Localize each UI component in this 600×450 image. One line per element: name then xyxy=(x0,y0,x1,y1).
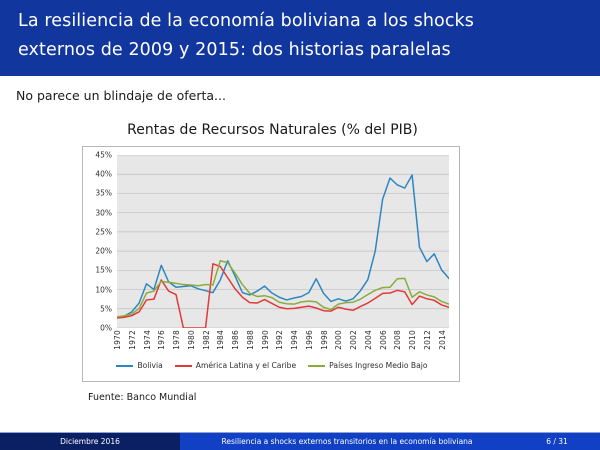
chart-series-svg xyxy=(117,155,449,328)
x-axis-tick-label: 1970 xyxy=(113,330,122,350)
x-axis-tick-label: 2012 xyxy=(423,330,432,350)
chart-title: Rentas de Recursos Naturales (% del PIB) xyxy=(0,122,545,138)
legend-item: Países Ingreso Medio Bajo xyxy=(308,361,427,370)
y-axis-tick-label: 40% xyxy=(95,170,112,179)
y-axis-tick-label: 5% xyxy=(100,304,112,313)
x-axis-tick-label: 1986 xyxy=(231,330,240,350)
x-axis-tick-label: 1994 xyxy=(290,330,299,350)
chart-y-axis: 0%5%10%15%20%25%30%35%40%45% xyxy=(83,155,115,328)
y-axis-tick-label: 20% xyxy=(95,247,112,256)
x-axis-tick-label: 2010 xyxy=(408,330,417,350)
legend-swatch xyxy=(308,365,325,367)
y-axis-tick-label: 30% xyxy=(95,208,112,217)
x-axis-tick-label: 1974 xyxy=(143,330,152,350)
chart-x-axis: 1970197219741976197819801982198419861988… xyxy=(117,330,449,362)
x-axis-tick-label: 1980 xyxy=(187,330,196,350)
slide-title-line-2: externos de 2009 y 2015: dos historias p… xyxy=(18,36,582,65)
x-axis-tick-label: 1972 xyxy=(128,330,137,350)
y-axis-tick-label: 0% xyxy=(100,324,112,333)
source-note: Fuente: Banco Mundial xyxy=(88,392,196,403)
legend-swatch xyxy=(116,365,133,367)
footer-date: Diciembre 2016 xyxy=(0,433,180,450)
y-axis-tick-label: 45% xyxy=(95,151,112,160)
x-axis-tick-label: 1984 xyxy=(216,330,225,350)
x-axis-tick-label: 2006 xyxy=(379,330,388,350)
legend-label: América Latina y el Caribe xyxy=(196,361,296,370)
chart-frame: 0%5%10%15%20%25%30%35%40%45% 19701972197… xyxy=(82,146,460,382)
footer-page-number: 6 / 31 xyxy=(514,433,600,450)
legend-swatch xyxy=(175,365,192,367)
legend-item: Bolivia xyxy=(116,361,162,370)
legend-label: Países Ingreso Medio Bajo xyxy=(329,361,427,370)
legend-item: América Latina y el Caribe xyxy=(175,361,296,370)
y-axis-tick-label: 35% xyxy=(95,189,112,198)
x-axis-tick-label: 1988 xyxy=(246,330,255,350)
x-axis-tick-label: 1982 xyxy=(202,330,211,350)
chart-legend: BoliviaAmérica Latina y el CaribePaíses … xyxy=(89,361,455,370)
x-axis-tick-label: 1998 xyxy=(320,330,329,350)
x-axis-tick-label: 1996 xyxy=(305,330,314,350)
x-axis-tick-label: 2002 xyxy=(349,330,358,350)
x-axis-tick-label: 1990 xyxy=(261,330,270,350)
slide-footer: Diciembre 2016 Resiliencia a shocks exte… xyxy=(0,433,600,450)
y-axis-tick-label: 10% xyxy=(95,285,112,294)
slide-title-line-1: La resiliencia de la economía boliviana … xyxy=(18,7,582,36)
lead-text: No parece un blindaje de oferta... xyxy=(16,88,226,103)
legend-label: Bolivia xyxy=(137,361,162,370)
y-axis-tick-label: 15% xyxy=(95,266,112,275)
x-axis-tick-label: 1976 xyxy=(157,330,166,350)
x-axis-tick-label: 1992 xyxy=(275,330,284,350)
x-axis-tick-label: 2000 xyxy=(334,330,343,350)
chart-plot-area xyxy=(117,155,449,328)
x-axis-tick-label: 2004 xyxy=(364,330,373,350)
y-axis-tick-label: 25% xyxy=(95,227,112,236)
x-axis-tick-label: 1978 xyxy=(172,330,181,350)
footer-running-title: Resiliencia a shocks externos transitori… xyxy=(180,433,514,450)
slide-title-bar: La resiliencia de la economía boliviana … xyxy=(0,0,600,76)
x-axis-tick-label: 2014 xyxy=(438,330,447,350)
x-axis-tick-label: 2008 xyxy=(393,330,402,350)
